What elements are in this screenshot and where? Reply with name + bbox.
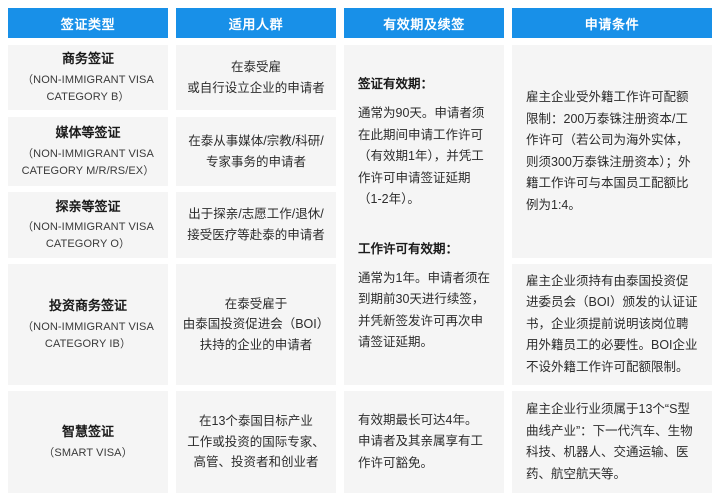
table-cell-conditions-merged: 雇主企业受外籍工作许可配额限制：200万泰铢注册资本/工作许可（若公司为海外实体… [512, 45, 712, 258]
column-header-visa-type: 签证类型 [8, 8, 168, 38]
table-cell-conditions-ib: 雇主企业须持有由泰国投资促进委员会（BOI）颁发的认证证书，企业须提前说明该岗位… [512, 264, 712, 385]
visa-type-code: （SMART VISA） [43, 445, 132, 462]
target-group-text: 在泰受雇 或自行设立企业的申请者 [187, 57, 325, 98]
validity-block-work-permit: 工作许可有效期： 通常为1年。申请者须在到期前30天进行续签，并凭新签发许可再次… [358, 239, 490, 354]
column-header-conditions: 申请条件 [512, 8, 712, 38]
visa-type-name: 媒体等签证 [55, 123, 120, 143]
conditions-text-smart-visa: 雇主企业行业须属于13个“S型曲线产业”：下一代汽车、生物科技、机器人、交通运输… [526, 399, 698, 485]
validity-smart-visa-text: 有效期最长可达4年。 申请者及其亲属享有工作许可豁免。 [358, 410, 490, 475]
table-header-row: 签证类型 适用人群 有效期及续签 申请条件 [8, 8, 712, 38]
target-group-text: 出于探亲/志愿工作/退休/ 接受医疗等赴泰的申请者 [187, 204, 325, 245]
table-row: 商务签证 （NON-IMMIGRANT VISA CATEGORY B） [8, 45, 168, 110]
visa-type-code: （NON-IMMIGRANT VISA CATEGORY O） [14, 219, 162, 253]
table-row: 探亲等签证 （NON-IMMIGRANT VISA CATEGORY O） [8, 192, 168, 258]
visa-type-code: （NON-IMMIGRANT VISA CATEGORY IB） [14, 319, 162, 353]
table-cell-target-group: 在泰受雇于 由泰国投资促进会（BOI） 扶持的企业的申请者 [176, 264, 336, 385]
visa-type-name: 商务签证 [62, 49, 114, 69]
validity-visa-body: 通常为90天。申请者须在此期间申请工作许可（有效期1年），并凭工作许可申请签证延… [358, 103, 490, 211]
table-cell-target-group: 在13个泰国目标产业 工作或投资的国际专家、 高管、投资者和创业者 [176, 391, 336, 493]
table-row: 投资商务签证 （NON-IMMIGRANT VISA CATEGORY IB） [8, 264, 168, 385]
validity-visa-title: 签证有效期： [358, 74, 490, 94]
table-cell-target-group: 出于探亲/志愿工作/退休/ 接受医疗等赴泰的申请者 [176, 192, 336, 258]
visa-type-name: 智慧签证 [62, 422, 114, 442]
visa-type-name: 探亲等签证 [55, 197, 120, 217]
table-cell-validity-smart-visa: 有效期最长可达4年。 申请者及其亲属享有工作许可豁免。 [344, 391, 504, 493]
visa-type-code: （NON-IMMIGRANT VISA CATEGORY B） [14, 72, 162, 106]
table-row: 智慧签证 （SMART VISA） [8, 391, 168, 493]
table-cell-target-group: 在泰受雇 或自行设立企业的申请者 [176, 45, 336, 110]
table-row: 媒体等签证 （NON-IMMIGRANT VISA CATEGORY M/R/R… [8, 117, 168, 186]
table-cell-conditions-smart-visa: 雇主企业行业须属于13个“S型曲线产业”：下一代汽车、生物科技、机器人、交通运输… [512, 391, 712, 493]
visa-comparison-table: 签证类型 适用人群 有效期及续签 申请条件 商务签证 （NON-IMMIGRAN… [0, 0, 720, 499]
visa-type-name: 投资商务签证 [49, 296, 127, 316]
table-cell-validity-merged: 签证有效期： 通常为90天。申请者须在此期间申请工作许可（有效期1年），并凭工作… [344, 45, 504, 385]
table-body: 商务签证 （NON-IMMIGRANT VISA CATEGORY B） 媒体等… [8, 45, 712, 499]
validity-work-permit-body: 通常为1年。申请者须在到期前30天进行续签，并凭新签发许可再次申请签证延期。 [358, 268, 490, 354]
column-header-validity: 有效期及续签 [344, 8, 504, 38]
conditions-text-ib: 雇主企业须持有由泰国投资促进委员会（BOI）颁发的认证证书，企业须提前说明该岗位… [526, 271, 698, 379]
target-group-text: 在泰从事媒体/宗教/科研/ 专家事务的申请者 [188, 131, 323, 172]
target-group-text: 在泰受雇于 由泰国投资促进会（BOI） 扶持的企业的申请者 [183, 294, 330, 356]
visa-type-code: （NON-IMMIGRANT VISA CATEGORY M/R/RS/EX） [14, 146, 162, 180]
conditions-text-b-m-o: 雇主企业受外籍工作许可配额限制：200万泰铢注册资本/工作许可（若公司为海外实体… [526, 87, 698, 216]
validity-block-visa: 签证有效期： 通常为90天。申请者须在此期间申请工作许可（有效期1年），并凭工作… [358, 74, 490, 211]
target-group-text: 在13个泰国目标产业 工作或投资的国际专家、 高管、投资者和创业者 [187, 411, 325, 473]
column-header-target-group: 适用人群 [176, 8, 336, 38]
table-cell-target-group: 在泰从事媒体/宗教/科研/ 专家事务的申请者 [176, 117, 336, 186]
validity-work-permit-title: 工作许可有效期： [358, 239, 490, 259]
